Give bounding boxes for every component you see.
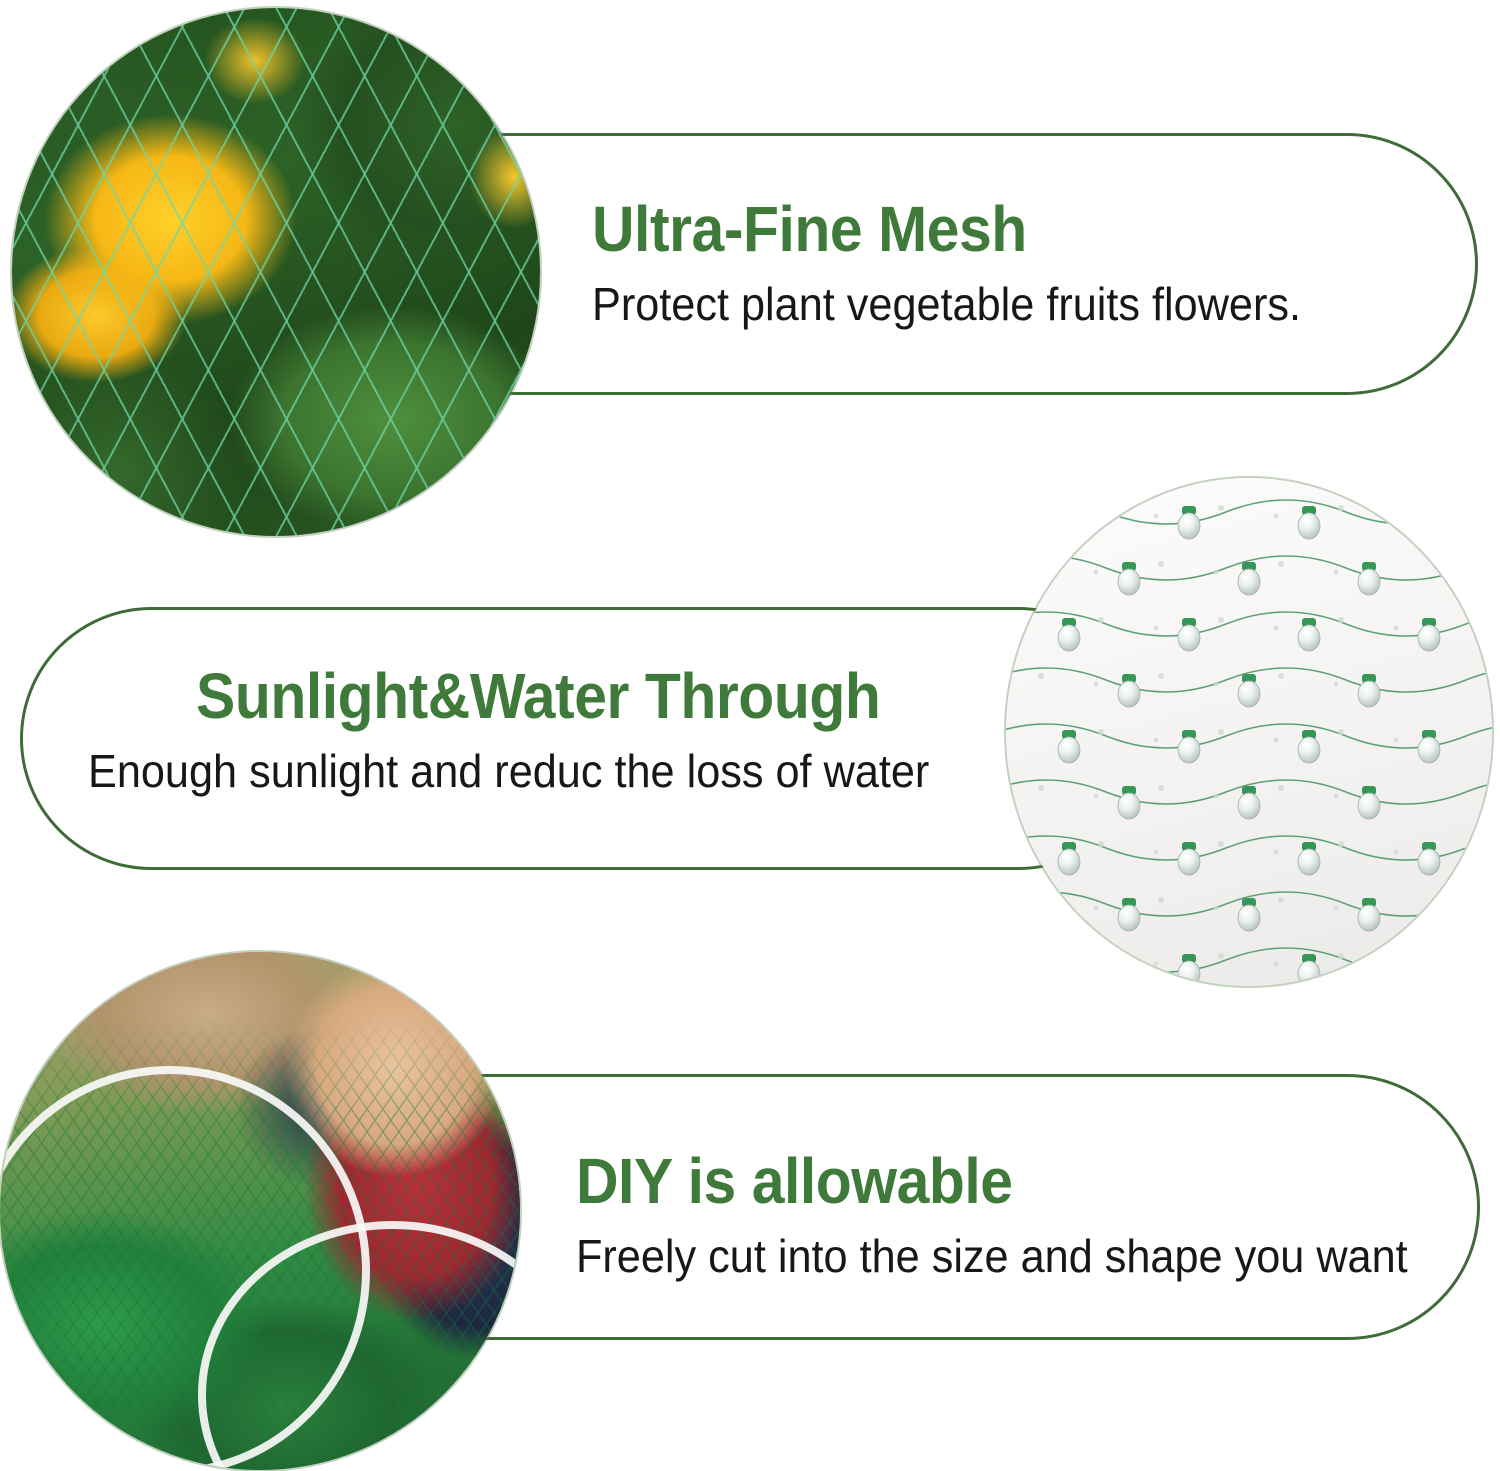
feature-1-heading: Ultra-Fine Mesh: [592, 196, 1286, 263]
wet-netting-droplets-photo: [1006, 478, 1492, 986]
mesh-net-overlay: [12, 8, 540, 536]
net-droplet-diagram: [1006, 478, 1492, 986]
product-feature-infographic: Ultra-Fine Mesh Protect plant vegetable …: [0, 0, 1500, 1471]
gardener-netting-photo: [0, 952, 520, 1470]
feature-1-text: Ultra-Fine Mesh Protect plant vegetable …: [592, 196, 1346, 332]
feature-2-heading: Sunlight&Water Through: [196, 663, 920, 730]
feature-2-text: Sunlight&Water Through Enough sunlight a…: [196, 663, 983, 799]
feature-3-text: DIY is allowable Freely cut into the siz…: [576, 1148, 1461, 1284]
feature-3-heading: DIY is allowable: [576, 1148, 1390, 1215]
feature-2-subheading: Enough sunlight and reduc the loss of wa…: [88, 744, 929, 799]
squash-flower-net-photo: [12, 8, 540, 536]
feature-3-subheading: Freely cut into the size and shape you w…: [576, 1229, 1408, 1284]
feature-3-image: [0, 952, 520, 1470]
feature-1-image: [12, 8, 540, 536]
feature-2-image: [1006, 478, 1492, 986]
feature-1-subheading: Protect plant vegetable fruits flowers.: [592, 277, 1301, 332]
